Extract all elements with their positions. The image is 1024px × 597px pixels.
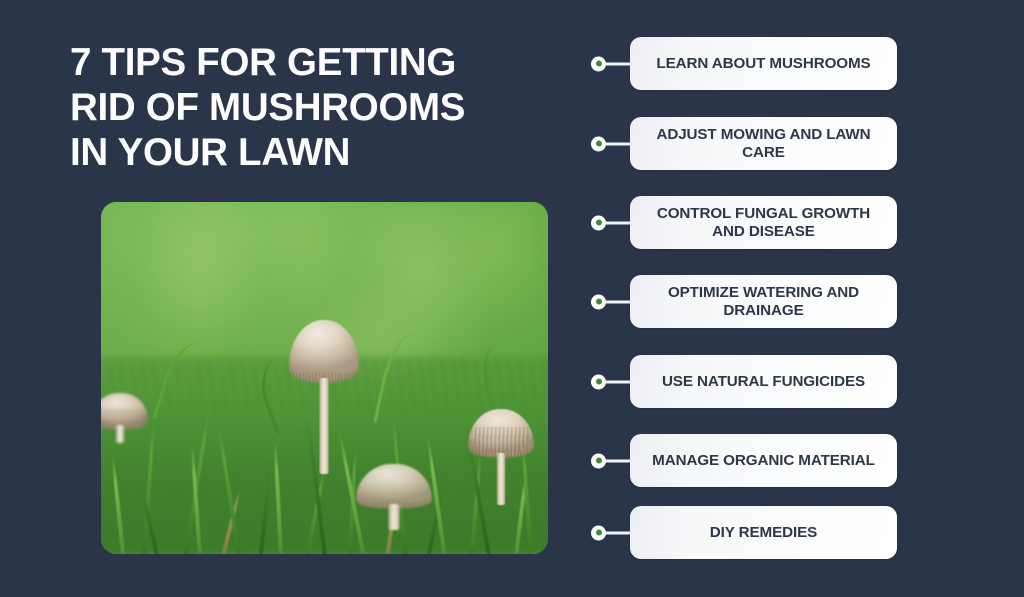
tip-card-2[interactable]: ADJUST MOWING AND LAWN CARE [630,117,897,170]
mushroom-stem [319,378,328,474]
timeline-node-icon [591,136,606,151]
timeline-step-4[interactable]: OPTIMIZE WATERING AND DRAINAGE [580,275,1024,328]
timeline-node-icon [591,294,606,309]
left-column: 7 TIPS FOR GETTING RID OF MUSHROOMS IN Y… [0,0,580,597]
tip-card-6[interactable]: MANAGE ORGANIC MATERIAL [630,434,897,487]
tip-card-4[interactable]: OPTIMIZE WATERING AND DRAINAGE [630,275,897,328]
tip-card-label: USE NATURAL FUNGICIDES [662,373,865,391]
timeline-step-7[interactable]: DIY REMEDIES [580,506,1024,559]
mushroom-cap [289,320,359,382]
mushroom-left [101,393,148,441]
infographic-root: 7 TIPS FOR GETTING RID OF MUSHROOMS IN Y… [0,0,1024,597]
timeline-step-2[interactable]: ADJUST MOWING AND LAWN CARE [580,117,1024,170]
tip-card-label: CONTROL FUNGAL GROWTH AND DISEASE [642,205,885,241]
tip-card-label: DIY REMEDIES [710,524,817,542]
page-title: 7 TIPS FOR GETTING RID OF MUSHROOMS IN Y… [70,40,570,175]
timeline-node-icon [591,215,606,230]
mushroom-stem [497,453,505,505]
tip-card-label: MANAGE ORGANIC MATERIAL [652,452,875,470]
mushroom-stem [116,425,124,443]
timeline-step-6[interactable]: MANAGE ORGANIC MATERIAL [580,434,1024,487]
timeline-step-1[interactable]: LEARN ABOUT MUSHROOMS [580,37,1024,90]
tip-card-5[interactable]: USE NATURAL FUNGICIDES [630,355,897,408]
mushroom-lawn-photo [101,202,548,554]
tip-card-7[interactable]: DIY REMEDIES [630,506,897,559]
timeline-step-3[interactable]: CONTROL FUNGAL GROWTH AND DISEASE [580,196,1024,249]
timeline-step-5[interactable]: USE NATURAL FUNGICIDES [580,355,1024,408]
tip-card-label: ADJUST MOWING AND LAWN CARE [642,126,885,162]
tip-card-3[interactable]: CONTROL FUNGAL GROWTH AND DISEASE [630,196,897,249]
mushroom-cap [356,464,432,508]
timeline-node-icon [591,525,606,540]
mushroom-right [468,409,534,505]
tip-card-1[interactable]: LEARN ABOUT MUSHROOMS [630,37,897,90]
tip-card-label: OPTIMIZE WATERING AND DRAINAGE [642,284,885,320]
tip-card-label: LEARN ABOUT MUSHROOMS [656,55,870,73]
mushroom-cap [101,393,148,429]
mushroom-center-low [356,464,432,526]
mushroom-stem [388,504,399,530]
timeline-node-icon [591,374,606,389]
timeline-node-icon [591,56,606,71]
timeline-column: LEARN ABOUT MUSHROOMS ADJUST MOWING AND … [580,0,1024,597]
mushroom-cap [468,409,534,457]
mushroom-main [289,320,359,470]
timeline-node-icon [591,453,606,468]
